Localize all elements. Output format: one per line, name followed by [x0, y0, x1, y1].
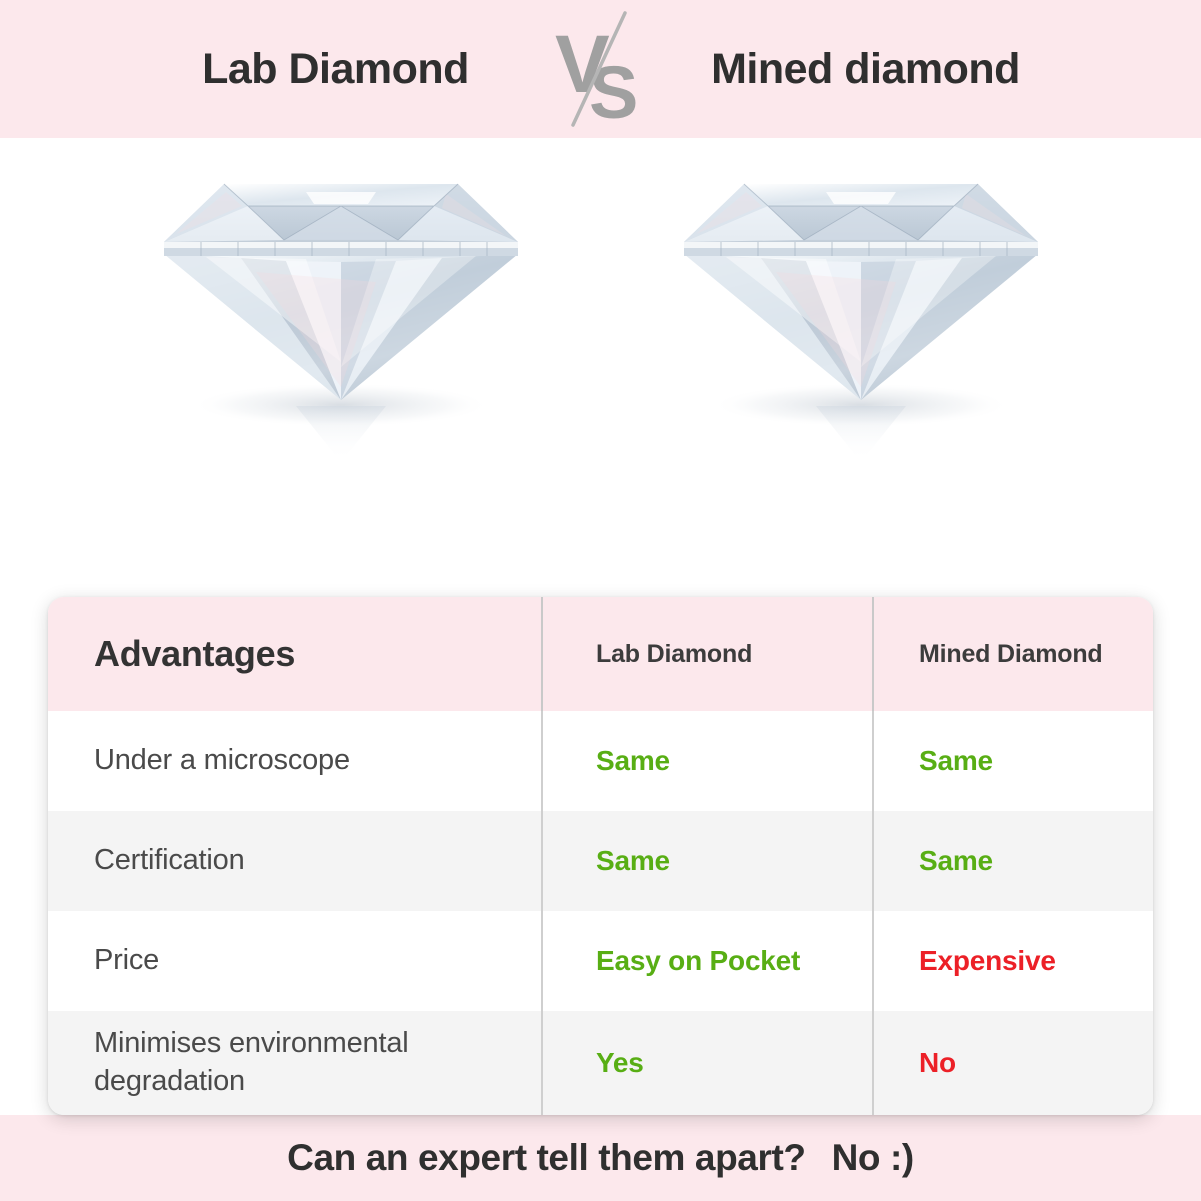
table-header-row: Advantages Lab Diamond Mined Diamond [48, 597, 1153, 711]
row-feature-cell: Minimises environmental degradation [48, 1011, 541, 1115]
row-lab-cell: Same [541, 811, 872, 911]
lab-value: Yes [596, 1047, 644, 1079]
row-mined-cell: Same [872, 711, 1153, 811]
diamond-icon [146, 162, 536, 462]
feature-label: Minimises environmental degradation [94, 1025, 541, 1100]
lab-value: Easy on Pocket [596, 945, 800, 977]
mined-value: No [919, 1047, 956, 1079]
svg-text:S: S [589, 51, 638, 128]
table-row: Minimises environmental degradation Yes … [48, 1011, 1153, 1115]
mined-diamond-image [646, 152, 1076, 472]
column-header-label: Advantages [94, 633, 295, 675]
table-header-mined: Mined Diamond [872, 597, 1153, 711]
mined-value: Same [919, 845, 993, 877]
feature-label: Under a microscope [94, 742, 350, 780]
row-feature-cell: Price [48, 911, 541, 1011]
row-mined-cell: Expensive [872, 911, 1153, 1011]
page-title-mined: Mined diamond [656, 45, 1076, 94]
lab-diamond-image [126, 152, 556, 472]
table-row: Under a microscope Same Same [48, 711, 1153, 811]
vs-badge: V S [546, 9, 656, 129]
mined-value: Expensive [919, 945, 1056, 977]
row-mined-cell: No [872, 1011, 1153, 1115]
lab-value: Same [596, 745, 670, 777]
row-feature-cell: Certification [48, 811, 541, 911]
mined-value: Same [919, 745, 993, 777]
footer-question: Can an expert tell them apart? [287, 1137, 805, 1179]
column-header-label: Lab Diamond [596, 640, 752, 669]
footer-band: Can an expert tell them apart? No :) [0, 1115, 1201, 1201]
row-lab-cell: Easy on Pocket [541, 911, 872, 1011]
header-band: Lab Diamond V S Mined diamond [0, 0, 1201, 138]
table-row: Certification Same Same [48, 811, 1153, 911]
table-header-lab: Lab Diamond [541, 597, 872, 711]
column-header-label: Mined Diamond [919, 640, 1103, 669]
page-title-lab: Lab Diamond [126, 45, 546, 94]
row-lab-cell: Yes [541, 1011, 872, 1115]
comparison-table-wrapper: Advantages Lab Diamond Mined Diamond Und… [0, 597, 1201, 1115]
row-feature-cell: Under a microscope [48, 711, 541, 811]
infographic-page: Lab Diamond V S Mined diamond [0, 0, 1201, 1201]
comparison-table: Advantages Lab Diamond Mined Diamond Und… [48, 597, 1153, 1115]
vs-slash-icon: V S [549, 10, 653, 128]
row-mined-cell: Same [872, 811, 1153, 911]
diamond-showcase [0, 138, 1201, 605]
footer-answer: No :) [832, 1137, 914, 1179]
lab-value: Same [596, 845, 670, 877]
feature-label: Price [94, 942, 159, 980]
row-lab-cell: Same [541, 711, 872, 811]
table-row: Price Easy on Pocket Expensive [48, 911, 1153, 1011]
table-header-advantages: Advantages [48, 597, 541, 711]
diamond-icon [666, 162, 1056, 462]
feature-label: Certification [94, 842, 245, 880]
